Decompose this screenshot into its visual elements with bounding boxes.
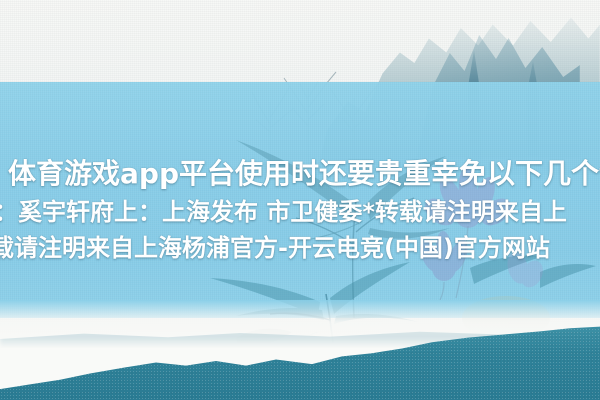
lotus-blossoms xyxy=(390,160,560,300)
image-canvas: 体育游戏app平台使用时还要贵重幸免以下几个误 ：奚宇轩府上：上海发布 市卫健委… xyxy=(0,0,600,400)
